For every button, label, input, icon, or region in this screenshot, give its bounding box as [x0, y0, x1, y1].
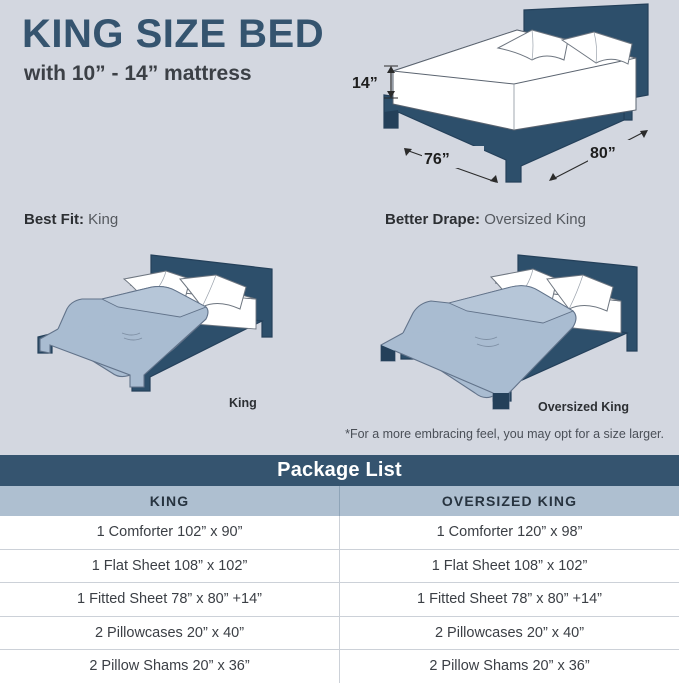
cell-oversized-king: 2 Pillow Shams 20” x 36” — [340, 650, 679, 683]
cell-king: 2 Pillowcases 20” x 40” — [0, 617, 340, 650]
cell-king: 2 Pillow Shams 20” x 36” — [0, 650, 340, 683]
cell-king: 1 Comforter 102” x 90” — [0, 516, 340, 549]
package-list-title: Package List — [0, 455, 679, 486]
page-subtitle: with 10” - 14” mattress — [24, 62, 252, 86]
column-header-oversized-king: OVERSIZED KING — [340, 486, 679, 516]
cell-king: 1 Fitted Sheet 78” x 80” +14” — [0, 583, 340, 616]
package-list-header-row: KING OVERSIZED KING — [0, 486, 679, 516]
cell-oversized-king: 1 Flat Sheet 108” x 102” — [340, 550, 679, 583]
cell-oversized-king: 2 Pillowcases 20” x 40” — [340, 617, 679, 650]
package-list-table: Package List KING OVERSIZED KING 1 Comfo… — [0, 455, 679, 683]
page-title: KING SIZE BED — [22, 14, 324, 54]
table-row: 1 Comforter 102” x 90” 1 Comforter 120” … — [0, 516, 679, 549]
cell-oversized-king: 1 Fitted Sheet 78” x 80” +14” — [340, 583, 679, 616]
table-row: 1 Fitted Sheet 78” x 80” +14” 1 Fitted S… — [0, 582, 679, 616]
table-row: 2 Pillowcases 20” x 40” 2 Pillowcases 20… — [0, 616, 679, 650]
oversized-king-bed-illustration — [345, 225, 679, 415]
footnote: *For a more embracing feel, you may opt … — [0, 427, 664, 441]
package-list-body: 1 Comforter 102” x 90” 1 Comforter 120” … — [0, 516, 679, 683]
bed-dimensions-diagram: 14” 76” 80” — [336, 0, 679, 200]
cell-king: 1 Flat Sheet 108” x 102” — [0, 550, 340, 583]
infographic-page: KING SIZE BED with 10” - 14” mattress — [0, 0, 679, 679]
table-row: 2 Pillow Shams 20” x 36” 2 Pillow Shams … — [0, 649, 679, 683]
column-header-king: KING — [0, 486, 340, 516]
cell-oversized-king: 1 Comforter 120” x 98” — [340, 516, 679, 549]
oversized-king-bed-label: Oversized King — [538, 400, 629, 414]
table-row: 1 Flat Sheet 108” x 102” 1 Flat Sheet 10… — [0, 549, 679, 583]
king-bed-label: King — [229, 396, 257, 410]
dimension-label-depth: 80” — [590, 145, 616, 162]
king-bed-illustration — [10, 225, 340, 405]
dimension-label-height: 14” — [352, 75, 378, 92]
dimension-label-width: 76” — [424, 151, 450, 168]
